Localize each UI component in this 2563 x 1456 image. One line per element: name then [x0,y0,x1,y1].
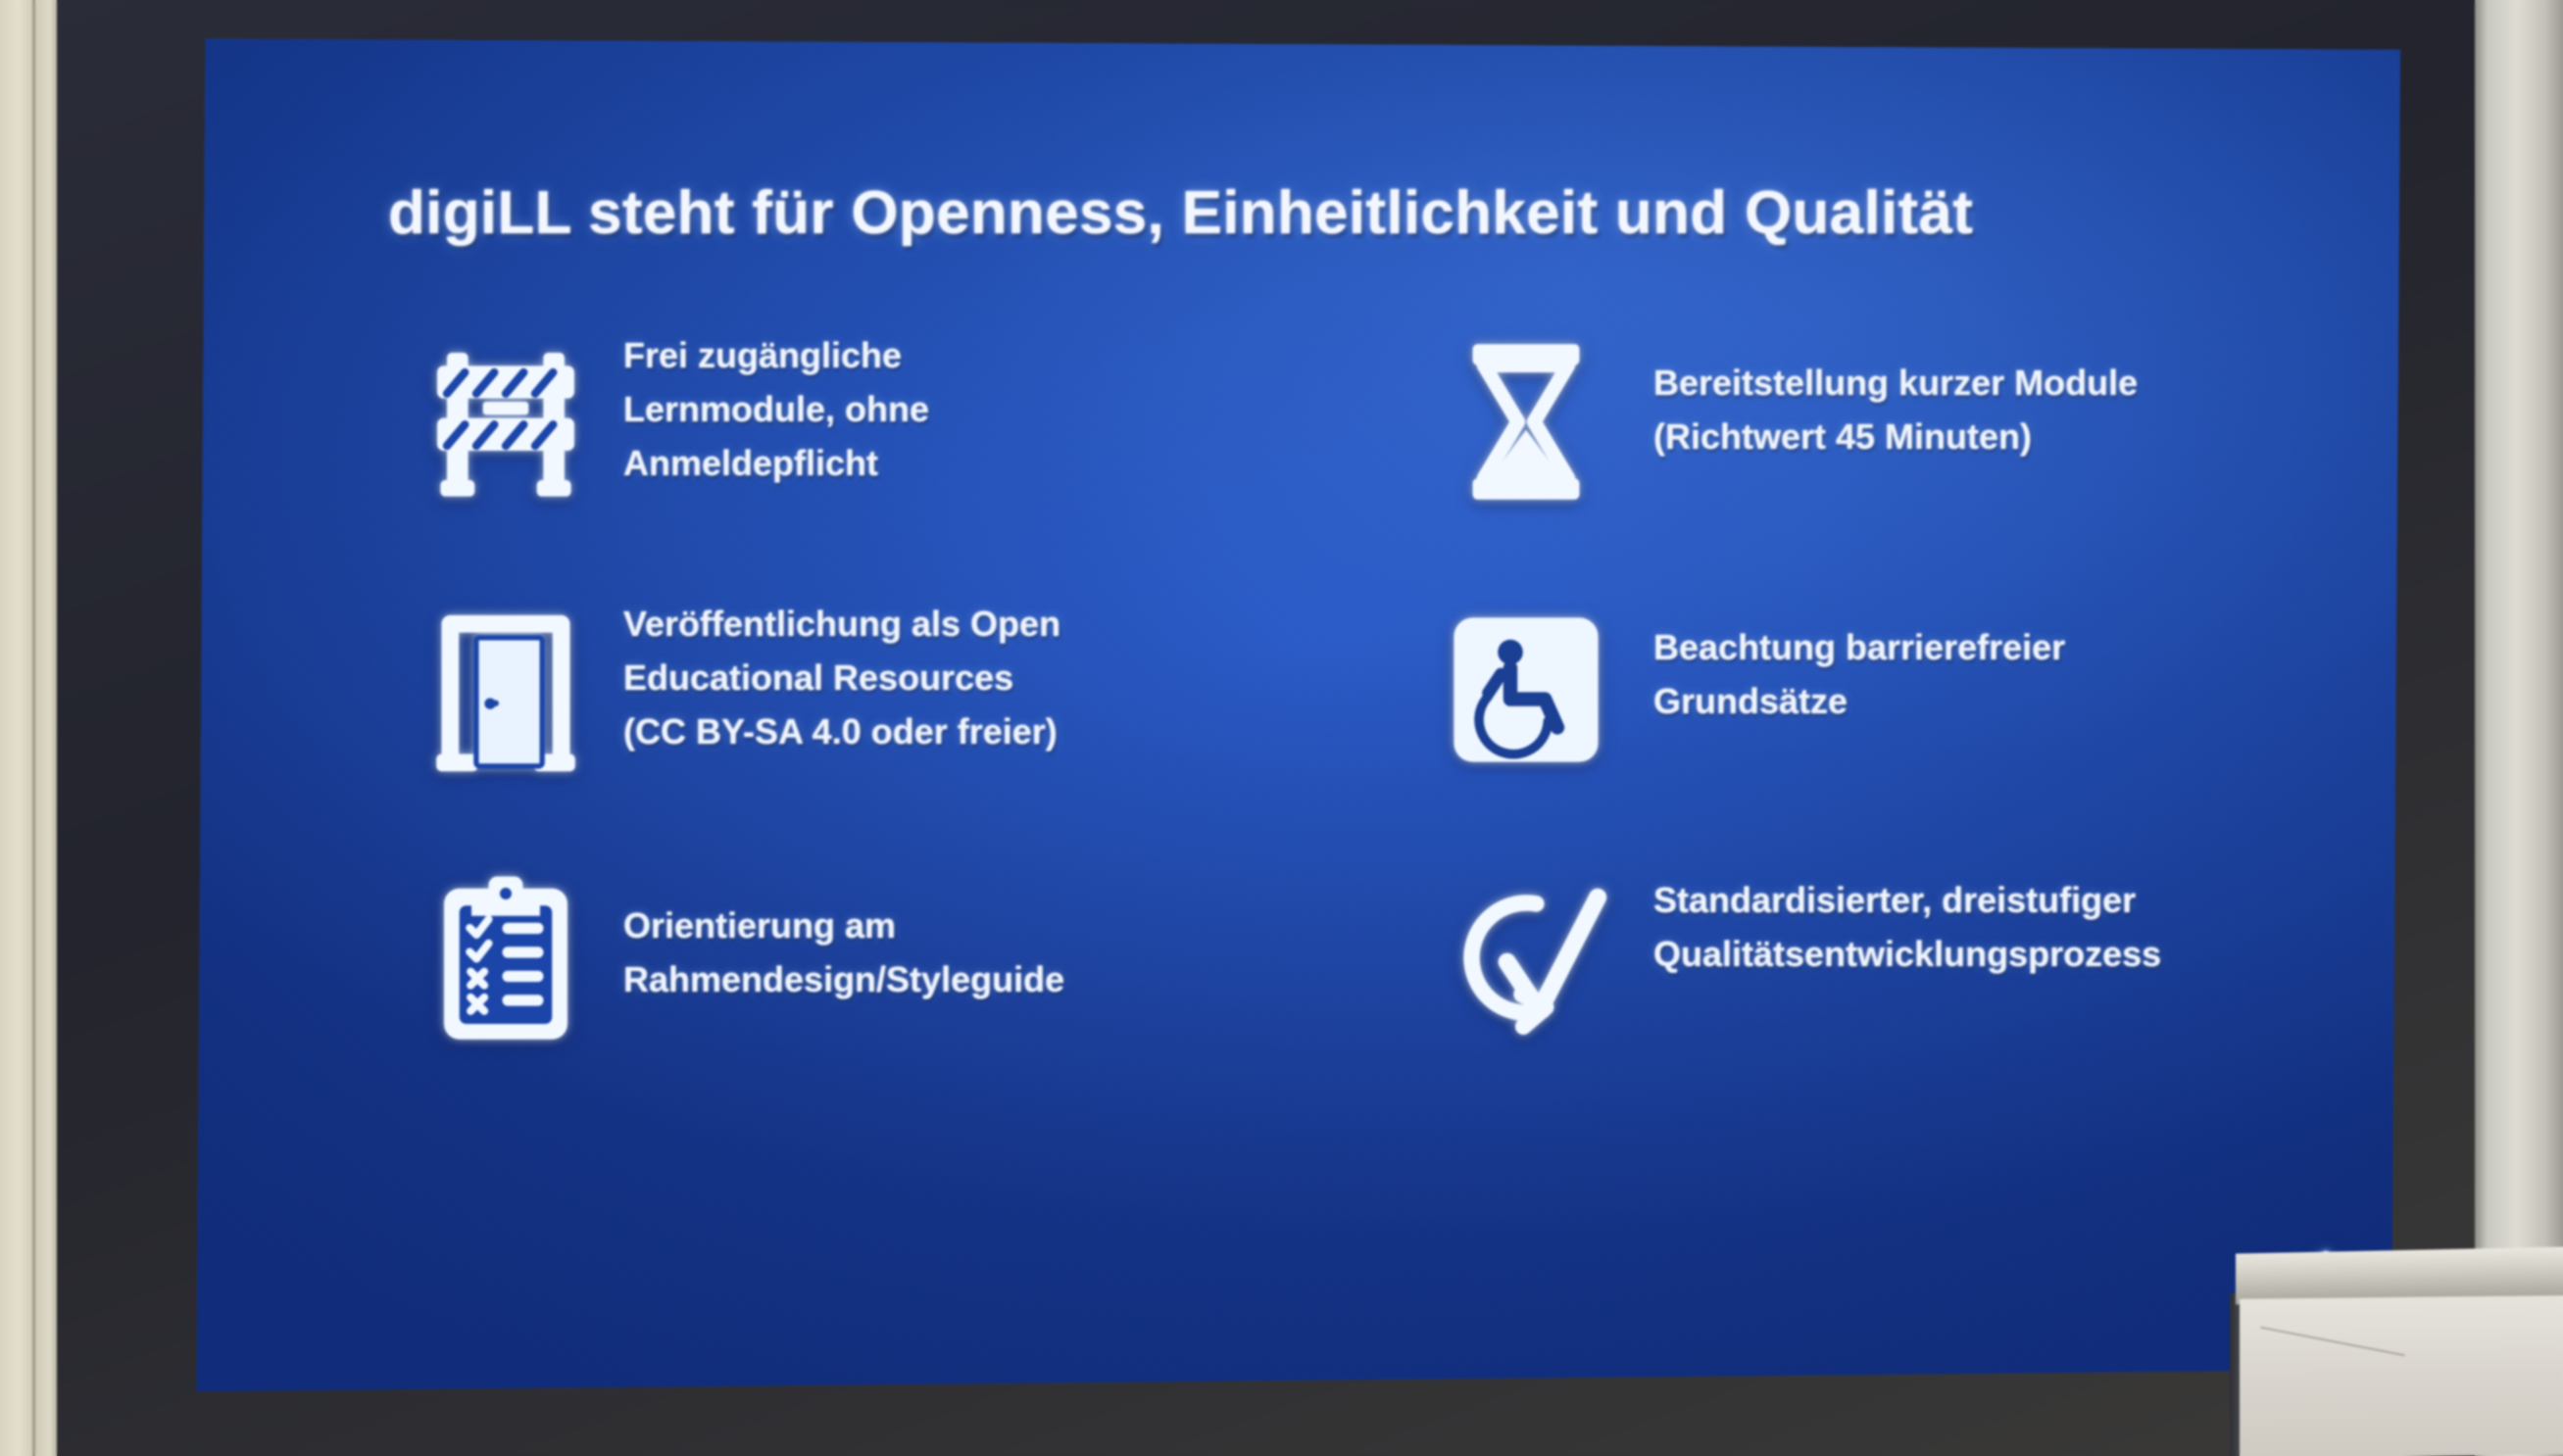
presentation-slide: digiLL steht für Openness, Einheitlichke… [192,33,2409,1405]
road-barrier-icon [388,323,623,519]
projector-room-scene: digiLL steht für Openness, Einheitlichke… [0,0,2563,1456]
feature-item-label: Veröffentlichung als Open Educational Re… [623,592,1060,758]
open-door-icon [388,592,623,788]
screen-bezel: digiLL steht für Openness, Einheitlichke… [57,0,2475,1456]
clipboard-checklist-icon [388,860,623,1056]
feature-line: Lernmodule, ohne [623,383,929,437]
feature-line: Qualitätsentwicklungsprozess [1653,928,2161,982]
check-cycle-icon [1399,860,1653,1056]
feature-line: Veröffentlichung als Open [623,598,1060,652]
feature-grid: Frei zugängliche Lernmodule, ohne Anmeld… [388,323,2292,1086]
feature-item-label: Beachtung barrierefreier Grundsätze [1653,592,2065,728]
feature-item-barrierefreiheit: Beachtung barrierefreier Grundsätze [1399,592,2292,817]
wheelchair-accessibility-icon [1399,592,1653,788]
hourglass-icon [1399,323,1653,519]
wall-strip-left [0,0,57,1456]
feature-item-label: Standardisierter, dreistufiger Qualitäts… [1653,860,2161,981]
feature-line: Beachtung barrierefreier [1653,621,2065,675]
feature-line: Bereitstellung kurzer Module [1653,357,2138,411]
feature-item-veroeffentlichung-oer: Veröffentlichung als Open Educational Re… [388,592,1281,817]
wall-strip-right [2475,0,2563,1456]
feature-item-label: Bereitstellung kurzer Module (Richtwert … [1653,323,2138,463]
feature-item-qualitaetsentwicklungsprozess: Standardisierter, dreistufiger Qualitäts… [1399,860,2292,1086]
feature-item-rahmendesign-styleguide: Orientierung am Rahmendesign/Styleguide [388,860,1281,1086]
feature-line: Orientierung am [623,899,1064,953]
flipchart-board [2230,1250,2563,1456]
feature-item-label: Orientierung am Rahmendesign/Styleguide [623,860,1064,1006]
feature-line: (Richtwert 45 Minuten) [1653,411,2138,464]
slide-content: digiLL steht für Openness, Einheitlichke… [192,33,2409,1405]
feature-line: Educational Resources [623,652,1060,705]
feature-line: (CC BY-SA 4.0 oder freier) [623,705,1060,759]
feature-line: Frei zugängliche [623,329,929,383]
feature-line: Rahmendesign/Styleguide [623,953,1064,1007]
feature-item-frei-zugaengliche-lernmodule: Frei zugängliche Lernmodule, ohne Anmeld… [388,323,1281,549]
feature-line: Anmeldepflicht [623,437,929,491]
flipchart-sheet [2240,1295,2563,1456]
feature-item-label: Frei zugängliche Lernmodule, ohne Anmeld… [623,323,929,490]
feature-line: Grundsätze [1653,675,2065,729]
feature-item-bereitstellung-kurzer-module: Bereitstellung kurzer Module (Richtwert … [1399,323,2292,549]
feature-line: Standardisierter, dreistufiger [1653,874,2161,928]
page-title: digiLL steht für Openness, Einheitlichke… [388,180,2292,247]
